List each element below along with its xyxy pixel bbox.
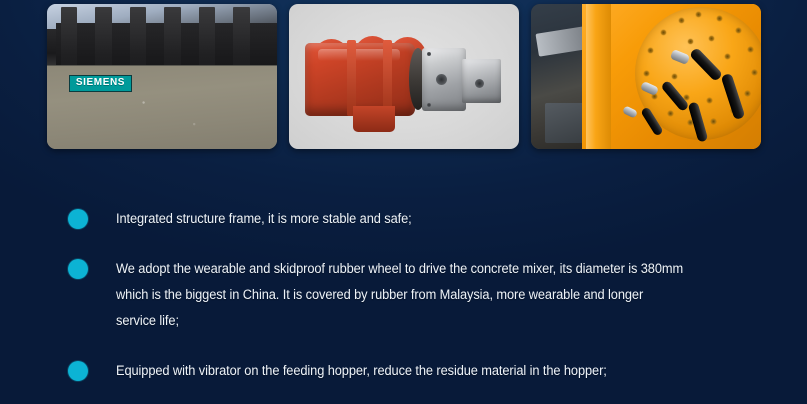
flange-bolt [717, 16, 722, 21]
inner-flange-bolt [672, 74, 677, 79]
inner-flange-bolt [725, 54, 730, 59]
inner-flange-bolt [707, 98, 712, 103]
bolt-hole [427, 103, 431, 107]
pump-casting-rib [383, 40, 392, 115]
flange-bolt [752, 70, 757, 75]
housing-support-column [586, 4, 611, 149]
photo-orange-gearbox[interactable] [531, 4, 761, 149]
flange-bolt [748, 47, 753, 52]
flange-bolt [711, 119, 716, 124]
filled-circle-bullet-icon [68, 361, 88, 381]
filled-circle-bullet-icon [68, 259, 88, 279]
photo-hydraulic-pump[interactable] [289, 4, 519, 149]
inner-flange-bolt [688, 39, 693, 44]
feature-item: Integrated structure frame, it is more s… [68, 206, 768, 232]
feature-item-text: Integrated structure frame, it is more s… [116, 206, 412, 232]
feature-item-text: Equipped with vibrator on the feeding ho… [116, 358, 607, 384]
port-hole [436, 74, 447, 85]
flange-bolt [679, 18, 684, 23]
product-detail-photo-strip: SIEMENS [47, 4, 761, 149]
flange-bolt [745, 91, 750, 96]
product-feature-list: Integrated structure frame, it is more s… [68, 206, 768, 384]
feature-item: We adopt the wearable and skidproof rubb… [68, 256, 768, 334]
siemens-brand-badge: SIEMENS [69, 75, 132, 92]
photo-siemens-control-panel[interactable]: SIEMENS [47, 4, 277, 149]
flange-bolt [696, 12, 701, 17]
pump-mounting-foot [353, 106, 394, 132]
product-feature-page: SIEMENS [0, 0, 807, 404]
flange-bolt [644, 71, 649, 76]
bolt-hole [427, 52, 431, 56]
inner-flange-bolt [709, 36, 714, 41]
flange-bolt [736, 28, 741, 33]
flange-bolt [648, 48, 653, 53]
flange-bolt [661, 30, 666, 35]
feature-item-text: We adopt the wearable and skidproof rubb… [116, 256, 686, 334]
pump-main-body [305, 43, 415, 116]
flange-bolt [668, 111, 673, 116]
filled-circle-bullet-icon [68, 209, 88, 229]
pump-casting-rib [347, 40, 356, 115]
feature-item: Equipped with vibrator on the feeding ho… [68, 358, 768, 384]
